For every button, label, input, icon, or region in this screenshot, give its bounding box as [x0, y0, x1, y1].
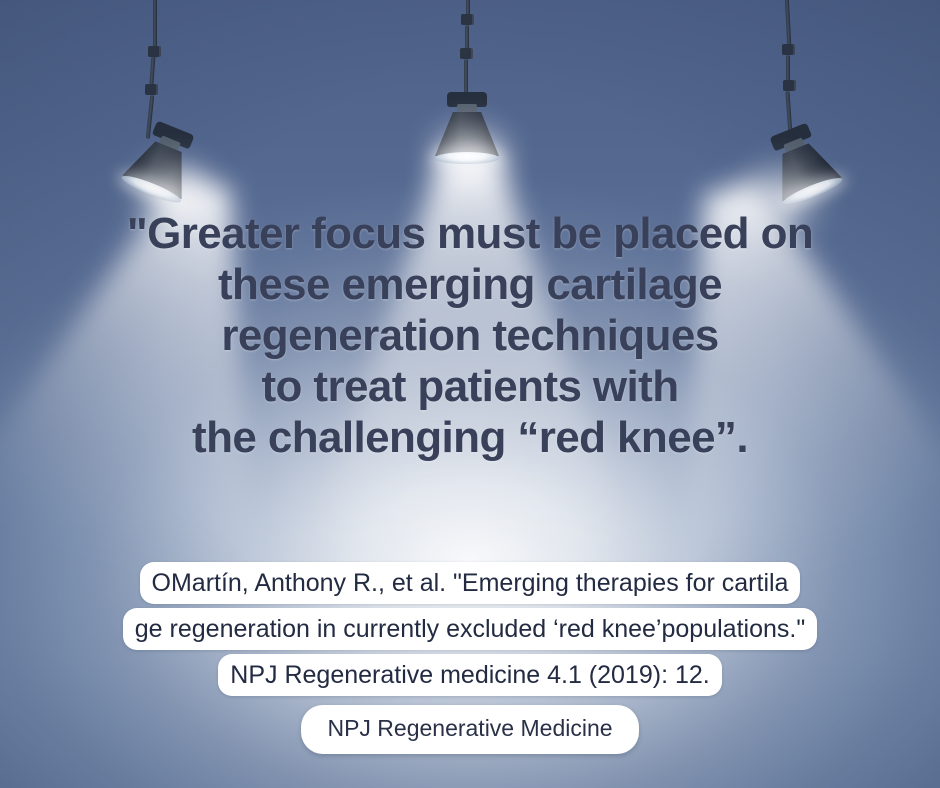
quote-card: "Greater focus must be placed on these e… — [0, 0, 940, 788]
journal-chip-row: NPJ Regenerative Medicine — [0, 705, 940, 754]
citation-line-text: NPJ Regenerative medicine 4.1 (2019): 12… — [218, 654, 721, 696]
citation-line: ge regeneration in currently excluded ‘r… — [0, 606, 940, 652]
citation-block: OMartín, Anthony R., et al. "Emerging th… — [0, 560, 940, 698]
citation-line: NPJ Regenerative medicine 4.1 (2019): 12… — [0, 652, 940, 698]
citation-line: OMartín, Anthony R., et al. "Emerging th… — [0, 560, 940, 606]
quote-headline: "Greater focus must be placed on these e… — [0, 208, 940, 463]
journal-chip[interactable]: NPJ Regenerative Medicine — [301, 705, 638, 754]
citation-line-text: ge regeneration in currently excluded ‘r… — [123, 608, 817, 650]
citation-line-text: OMartín, Anthony R., et al. "Emerging th… — [140, 562, 801, 604]
